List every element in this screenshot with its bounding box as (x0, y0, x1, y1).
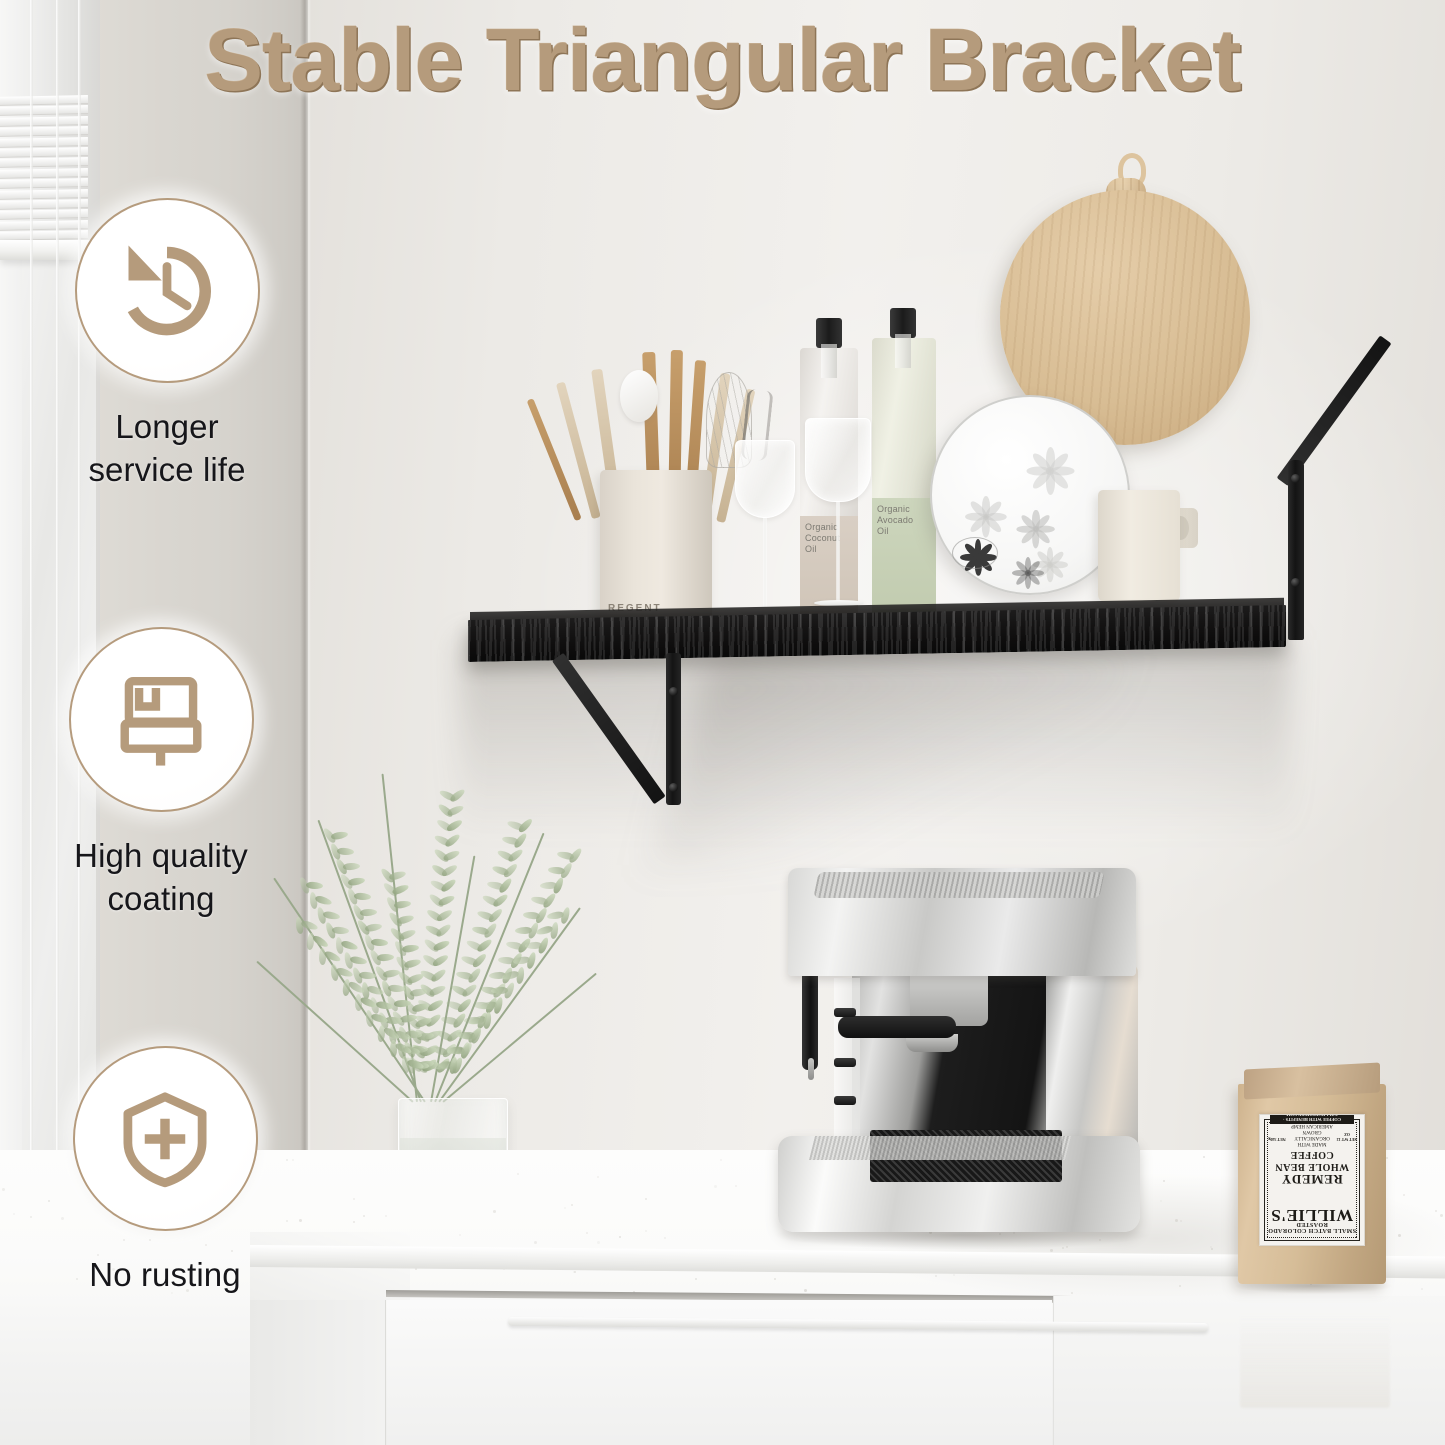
olive-leaf (467, 967, 483, 985)
coffee-bag: SMALL BATCH COLORADO ROASTED WILLIE'S RE… (1238, 1066, 1386, 1284)
espresso-control-knob[interactable] (834, 1058, 856, 1067)
feature-label-line2: service life (22, 448, 312, 491)
olive-leaf (491, 893, 509, 909)
olive-leaf (431, 953, 449, 968)
bottle-neck (821, 344, 837, 378)
daisy-center (1025, 570, 1030, 575)
feature-high-quality-coating: High quality coating (16, 627, 306, 920)
olive-leaf (513, 832, 529, 850)
feature-label-line2: coating (16, 877, 306, 920)
olive-leaf (433, 939, 451, 952)
olive-leaf (359, 908, 376, 916)
history-clock-icon (111, 235, 223, 347)
olive-leaf (497, 877, 513, 895)
plate-ring-motif (952, 537, 998, 569)
utensil-crock: REGENT (600, 470, 712, 628)
olive-leaf (430, 968, 448, 984)
wine-glass-bowl (735, 440, 795, 518)
olive-leaf (542, 892, 558, 910)
wine-glass-stem (763, 518, 767, 610)
olive-leaf (447, 804, 465, 817)
olive-leaf (444, 833, 462, 849)
label-brand: WILLIE'S (1260, 1205, 1364, 1225)
bottle-label-line3: Oil (877, 526, 931, 537)
bottle-label-line3: Oil (805, 544, 853, 555)
olive-leaf (348, 877, 366, 887)
olive-leaf (442, 849, 460, 862)
window-mullion (78, 0, 81, 1225)
olive-leaf (428, 984, 446, 997)
stainless-steel-espresso-machine (778, 868, 1146, 1268)
bottle-label-line1: Organic (877, 504, 931, 515)
olive-leaf (399, 928, 417, 941)
olive-leaf (552, 876, 565, 894)
olive-leaf (365, 922, 383, 932)
shield-plus-icon (111, 1085, 219, 1193)
olive-leaf (402, 944, 420, 953)
olive-leaf (434, 923, 452, 939)
espresso-cup-warmer-top (788, 868, 1136, 976)
olive-leaf (331, 831, 349, 841)
olive-leaf (382, 968, 400, 978)
bracket-screw (1291, 578, 1300, 587)
label-product-line-1: REMEDY (1260, 1171, 1364, 1187)
olive-leaf (411, 1002, 429, 1013)
olive-leaf (502, 862, 519, 879)
page-title: Stable Triangular Bracket (0, 8, 1445, 112)
olive-leaf (337, 847, 354, 855)
olive-leaf (517, 817, 534, 834)
label-product-line-3: COFFEE (1260, 1149, 1364, 1160)
espresso-control-knob[interactable] (834, 1008, 856, 1017)
product-marketing-image: Organic Coconut Oil Organic Avocado Oil … (0, 0, 1445, 1445)
label-footer: COFFEE WITH BENEFITS · WILLIESREMEDY.COM (1270, 1114, 1354, 1124)
olive-leaf (342, 862, 359, 870)
olive-leaf (426, 998, 444, 1013)
olive-leaf (476, 938, 494, 954)
daisy-center (1047, 562, 1053, 568)
olive-leaf (354, 994, 361, 1011)
olive-leaf (507, 848, 525, 864)
olive-leaf (471, 952, 488, 969)
feature-longer-service-life: Longer service life (22, 198, 312, 491)
olive-leaf (449, 788, 467, 804)
feature-label-line1: Longer (22, 405, 312, 448)
bottle-neck (895, 334, 911, 368)
feature-badge-circle (73, 1046, 258, 1231)
window-mullion (56, 0, 59, 1225)
feature-label-line1: High quality (16, 834, 306, 877)
olive-leaf (559, 861, 574, 879)
feature-label: Longer service life (22, 405, 312, 491)
olive-branch-arrangement (320, 730, 600, 1200)
cup-warmer-grill (813, 872, 1105, 898)
window-mullion (30, 0, 33, 1225)
organic-avocado-oil-bottle: Organic Avocado Oil (872, 338, 936, 628)
feature-badge-circle (69, 627, 254, 812)
coffee-bag-label: SMALL BATCH COLORADO ROASTED WILLIE'S RE… (1259, 1114, 1365, 1246)
feature-badge-circle (75, 198, 260, 383)
bracket-wall-post (1288, 460, 1304, 640)
wine-glass-bowl (805, 418, 871, 502)
bracket-screw (669, 687, 678, 696)
label-badge-left: NET WT 12 OZ (1336, 1132, 1358, 1142)
bottle-label-line2: Avocado (877, 515, 931, 526)
feature-label: No rusting (20, 1253, 310, 1296)
label-badge-right: NET 340g (1266, 1137, 1288, 1142)
feature-label: High quality coating (16, 834, 306, 920)
olive-leaf (482, 922, 498, 940)
bottle-label-line1: Organic (805, 522, 853, 533)
cabinet-side-panel[interactable] (250, 1300, 386, 1445)
olive-leaf (377, 954, 394, 962)
olive-leaf (440, 863, 458, 878)
olive-leaf (439, 878, 457, 894)
feature-label-line1: No rusting (20, 1253, 310, 1296)
olive-leaf (396, 914, 414, 925)
bottle-label: Organic Avocado Oil (872, 498, 936, 618)
shelf-diagonal-shadow (650, 655, 1130, 865)
bottle-label-line2: Coconut (805, 533, 853, 544)
label-product-line-2: WHOLE BEAN (1260, 1161, 1364, 1172)
steam-wand[interactable] (802, 964, 818, 1070)
olive-leaf (567, 847, 583, 865)
espresso-control-knob[interactable] (834, 1096, 856, 1105)
olive-leaf (487, 907, 504, 924)
olive-leaf (404, 958, 422, 969)
feature-no-rusting: No rusting (20, 1046, 310, 1296)
white-ladle-head (620, 370, 658, 422)
bracket-wall-post (666, 653, 681, 805)
olive-leaf (409, 988, 427, 997)
olive-leaf (406, 972, 424, 985)
steam-wand-tip (808, 1058, 814, 1080)
portafilter-handle[interactable] (838, 1016, 956, 1038)
espresso-drip-tray-front (809, 1136, 1071, 1160)
paint-brush-icon (107, 666, 215, 774)
daisy-center (1046, 467, 1054, 475)
coffee-bag-reflection (1240, 1288, 1390, 1408)
olive-leaf (394, 900, 412, 909)
triangular-bracket-right (1230, 460, 1360, 645)
olive-leaf (437, 894, 455, 907)
bracket-screw (669, 783, 678, 792)
bracket-screw (1291, 474, 1300, 483)
olive-leaf (436, 908, 454, 923)
speckled-ceramic-mug (1098, 490, 1180, 602)
olive-leaf (445, 818, 463, 833)
wine-glass-stem (836, 502, 840, 602)
